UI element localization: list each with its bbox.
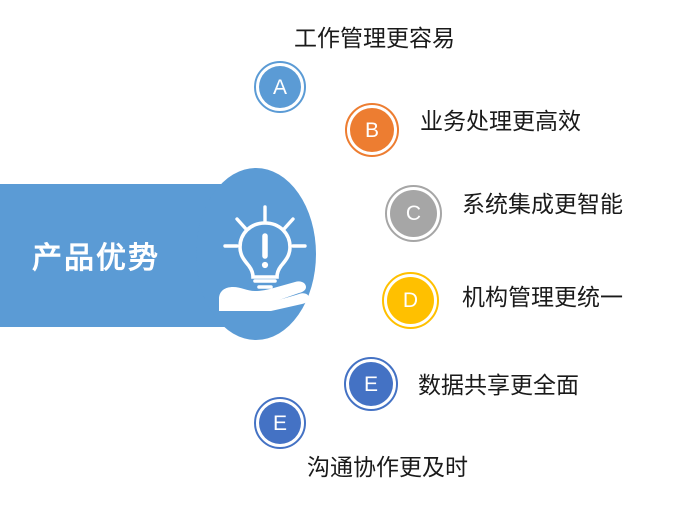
benefit-label-b: 业务处理更高效	[420, 110, 581, 133]
badge-d-letter: D	[403, 290, 418, 311]
badge-e-letter: E	[364, 374, 378, 395]
badge-e-disc: E	[349, 362, 393, 406]
badge-a[interactable]: A	[254, 61, 306, 113]
badge-e[interactable]: E	[344, 357, 398, 411]
benefit-label-e: 数据共享更全面	[418, 374, 579, 397]
benefit-label-c: 系统集成更智能	[462, 193, 623, 216]
badge-d-disc: D	[387, 277, 434, 324]
benefit-label-d: 机构管理更统一	[462, 286, 623, 309]
badge-a-letter: A	[273, 77, 287, 98]
badge-c[interactable]: C	[385, 185, 442, 242]
diagram-canvas: 产品优势 A 工作管理更容易 B 业务处理更高效 C 系统集成更智能	[0, 0, 673, 515]
badge-c-disc: C	[390, 190, 437, 237]
product-advantage-banner: 产品优势	[0, 168, 316, 340]
badge-d[interactable]: D	[382, 272, 439, 329]
hand-holding-lightbulb-icon	[213, 201, 317, 311]
badge-b-letter: B	[365, 120, 379, 141]
benefit-label-f: 沟通协作更及时	[307, 456, 468, 479]
badge-c-letter: C	[406, 203, 421, 224]
badge-a-disc: A	[259, 66, 301, 108]
badge-b-disc: B	[350, 108, 394, 152]
page-title: 产品优势	[32, 244, 212, 274]
badge-b[interactable]: B	[345, 103, 399, 157]
badge-f[interactable]: E	[254, 397, 306, 449]
badge-f-letter: E	[273, 413, 287, 434]
benefit-label-a: 工作管理更容易	[294, 27, 455, 50]
badge-f-disc: E	[259, 402, 301, 444]
